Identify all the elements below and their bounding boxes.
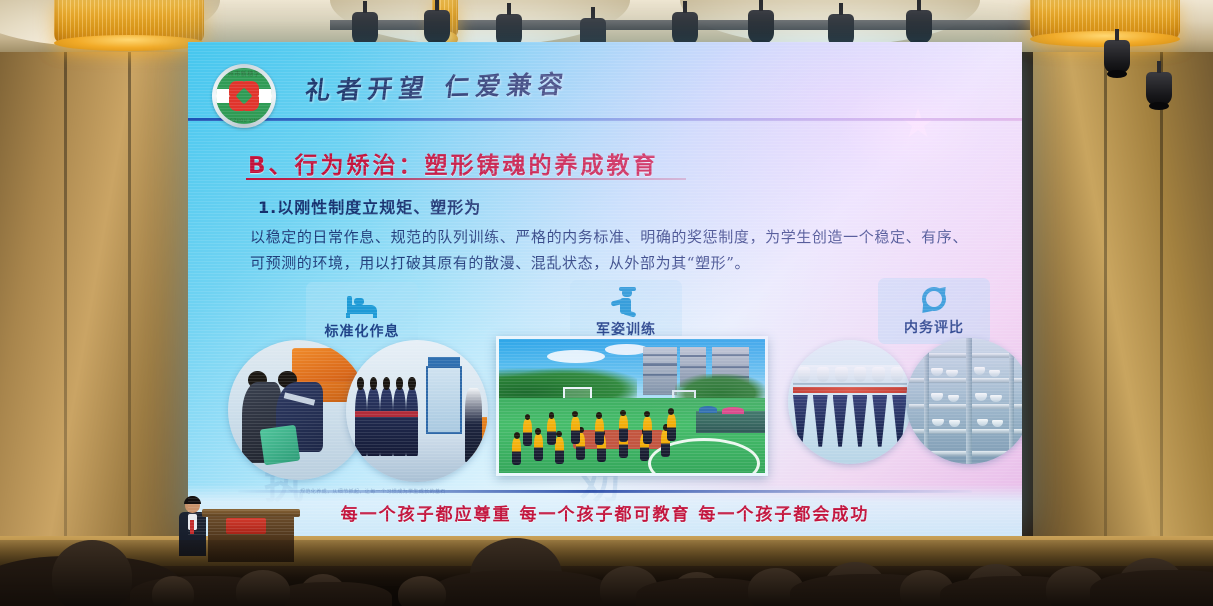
- header-divider: [188, 118, 1022, 121]
- audience-member: [272, 582, 392, 606]
- footer-slogan: 每一个孩子都应尊重 每一个孩子都可教育 每一个孩子都会成功: [188, 500, 1022, 525]
- title-underline: [246, 178, 686, 180]
- towel-rack-photo: [788, 340, 912, 464]
- stage-spotlight: [906, 10, 932, 44]
- hall-wall-left: [0, 0, 190, 560]
- washbasin-shelf-photo: [906, 338, 1022, 464]
- audience-member: [152, 576, 194, 606]
- student-lineup-photo: [346, 340, 488, 482]
- stage-spotlight: [1104, 40, 1130, 74]
- bed-icon: [345, 290, 379, 318]
- header-calligraphy-motto: 礼者开望 仁爱兼容: [304, 65, 572, 108]
- audience-member: [432, 570, 612, 606]
- logo-name-cn: 广州市新穗学校: [216, 69, 272, 78]
- stage-spotlight: [672, 12, 698, 46]
- slide-footer-band: 每一个孩子都应尊重 每一个孩子都可教育 每一个孩子都会成功: [188, 484, 1022, 536]
- chandelier-light: [1030, 0, 1180, 40]
- audience-member: [398, 576, 446, 606]
- stage-spotlight: [352, 12, 378, 46]
- slide-title: B、行为矫治：塑形铸魂的养成教育: [248, 146, 659, 180]
- slide-body-paragraph: 以稳定的日常作息、规范的队列训练、严格的内务标准、明确的奖惩制度，为学生创造一个…: [250, 224, 968, 277]
- logo-name-pinyin: GUANGZHOU XINSUI SCHOOL: [216, 118, 272, 123]
- chandelier-light: [54, 0, 204, 44]
- wall-seam: [1104, 0, 1107, 560]
- conference-room-scene: ★ 广州市新穗学校 GUANGZHOU XINSUI SCHOOL 礼者开望 仁…: [0, 0, 1213, 606]
- slide-subtitle: 1.以刚性制度立规矩、塑形为: [258, 194, 481, 218]
- hall-wall-right: [1033, 0, 1213, 560]
- stage-spotlight: [748, 10, 774, 44]
- photo-gallery-row: [188, 332, 1022, 482]
- audience-foreground: [0, 540, 1213, 606]
- footer-divider: [238, 490, 972, 493]
- wall-seam: [64, 0, 67, 560]
- audience-member: [52, 540, 132, 606]
- soldier-icon: [609, 288, 643, 316]
- led-presentation-screen: ★ 广州市新穗学校 GUANGZHOU XINSUI SCHOOL 礼者开望 仁…: [188, 42, 1022, 536]
- school-logo: 广州市新穗学校 GUANGZHOU XINSUI SCHOOL: [212, 64, 276, 128]
- audience-member: [236, 570, 290, 606]
- stage-spotlight: [424, 10, 450, 44]
- refresh-icon: [917, 286, 951, 314]
- formation-drill-photo: [496, 336, 768, 476]
- logo-knot-emblem: [229, 81, 259, 111]
- wall-seam: [128, 0, 131, 560]
- stage-spotlight: [1146, 72, 1172, 106]
- audience-member: [1090, 570, 1213, 606]
